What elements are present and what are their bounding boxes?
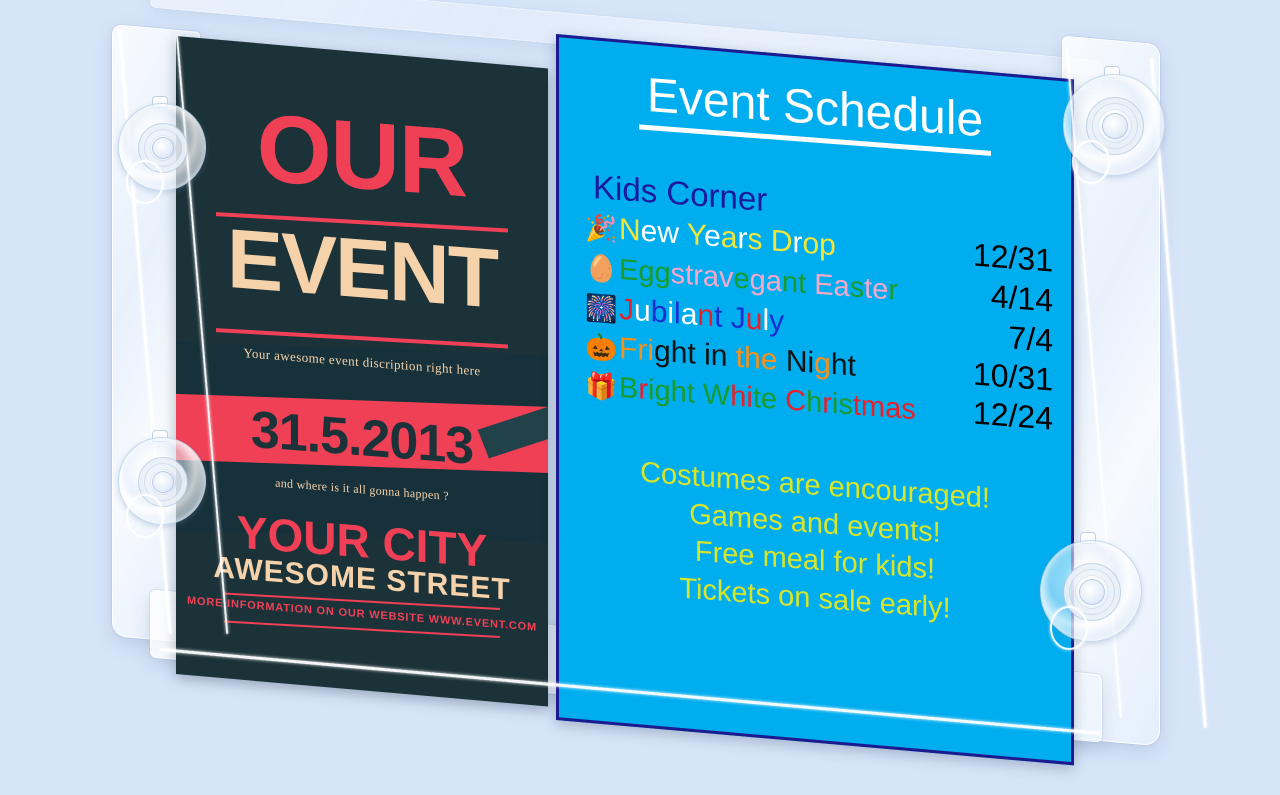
suction-cup-top-right-ring bbox=[1072, 140, 1110, 184]
event-list: 🎉New Years Drop12/31🥚Eggstravegant Easte… bbox=[577, 207, 1053, 439]
event-date: 12/24 bbox=[957, 393, 1053, 437]
easter-eggs-icon: 🥚 bbox=[585, 255, 619, 284]
suction-cup-bottom-right-ring bbox=[1050, 606, 1088, 650]
schedule-content: Event Schedule Kids Corner 🎉New Years Dr… bbox=[559, 40, 1071, 759]
fireworks-icon: 🎆 bbox=[585, 295, 619, 324]
poster-inner: OUR EVENT Your awesome event discription… bbox=[176, 38, 548, 67]
gift-icon: 🎁 bbox=[585, 373, 619, 402]
suction-cup-top-left-ring bbox=[126, 160, 164, 204]
jack-o-lantern-icon: 🎃 bbox=[585, 334, 619, 363]
event-poster: OUR EVENT Your awesome event discription… bbox=[176, 36, 548, 707]
party-hat-icon: 🎉 bbox=[585, 216, 619, 245]
event-date: 7/4 bbox=[957, 315, 1053, 359]
event-schedule-panel: Event Schedule Kids Corner 🎉New Years Dr… bbox=[556, 34, 1074, 765]
suction-cup-bottom-left-ring bbox=[126, 494, 164, 538]
poster-headline-top: OUR bbox=[176, 96, 548, 216]
event-date: 4/14 bbox=[957, 275, 1053, 319]
event-date: 10/31 bbox=[957, 354, 1053, 398]
event-date: 12/31 bbox=[957, 236, 1053, 280]
schedule-notes: Costumes are encouraged!Games and events… bbox=[577, 450, 1053, 637]
scene: OUR EVENT Your awesome event discription… bbox=[0, 0, 1280, 795]
